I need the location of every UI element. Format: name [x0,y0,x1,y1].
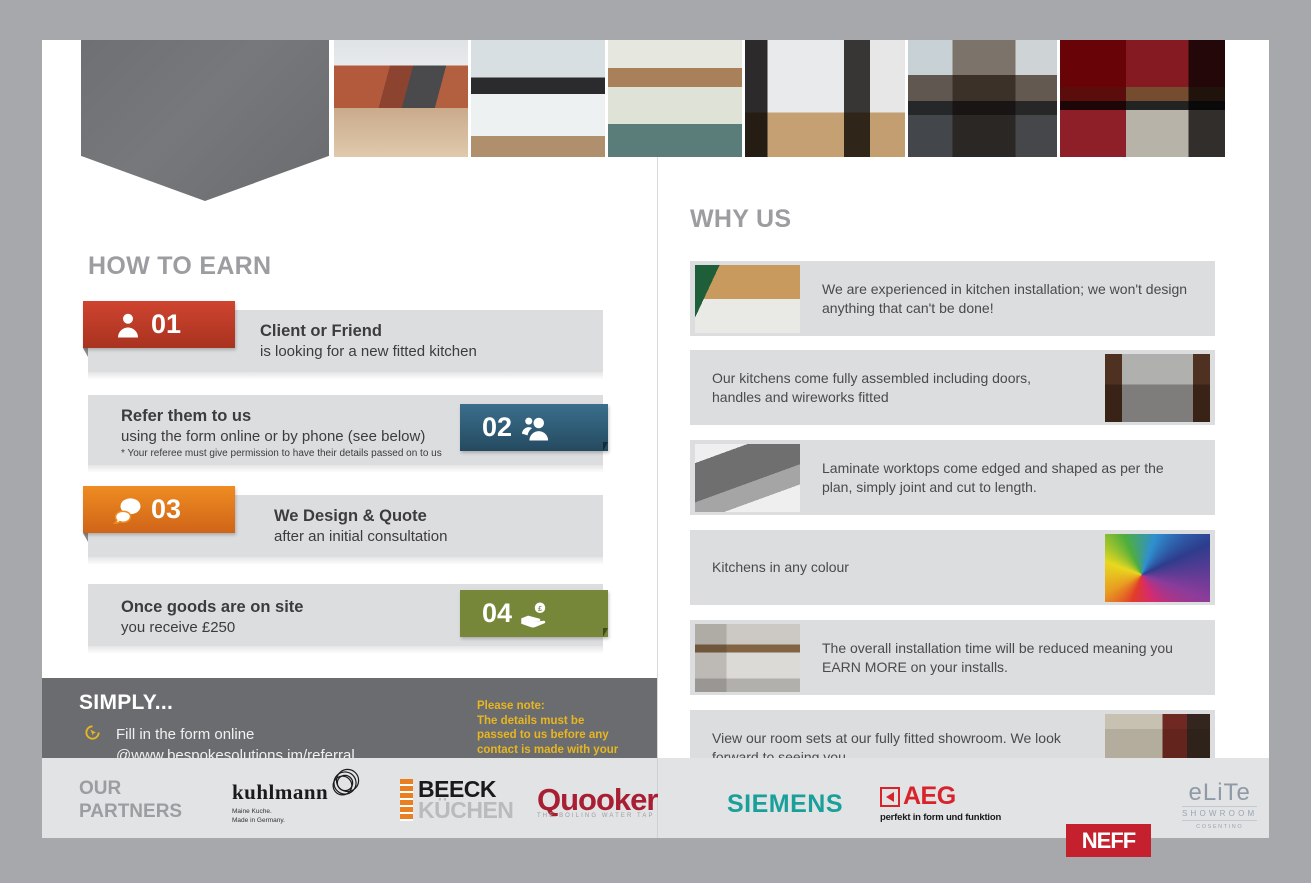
step-03-badge: 03 [83,486,235,533]
step-02-heading: Refer them to us [121,406,442,427]
kuhlmann-tagline: Maine Kuche. Made in Germany. [232,807,328,825]
why-card-3-text: Laminate worktops come edged and shaped … [822,459,1192,497]
why-card-5-text: The overall installation time will be re… [822,639,1192,677]
column-divider [657,157,658,838]
why-card-4-text: Kitchens in any colour [712,558,1082,577]
simply-online-line1: Fill in the form online [116,726,254,743]
hand-money-icon: £ [520,599,550,629]
fitted-kitchen-photo [695,624,800,692]
step-01-badge: 01 [83,301,235,348]
elite-showroom-word: SHOWROOM [1182,806,1257,821]
beeck-bars-icon [400,779,413,821]
kitchen-thumb-2 [471,40,608,157]
step-03-shadow [88,557,603,565]
step-02-row: 02 Refer them to us using the form onlin… [88,395,603,465]
two-people-icon [520,413,550,443]
why-card-4: Kitchens in any colour [690,530,1215,605]
speech-bubble-icon [113,495,143,525]
aeg-wordmark: AEG [903,782,956,811]
step-04-text: Once goods are on site you receive £250 [121,597,303,638]
how-to-earn-title: HOW TO EARN [88,252,271,281]
kitchen-thumb-4 [745,40,908,157]
neff-wordmark: NEFF [1082,828,1135,854]
kuhlmann-logo: kuhlmann Maine Kuche. Made in Germany. [232,780,328,825]
kitchen-thumb-3 [608,40,745,157]
step-03-body: after an initial consultation [274,527,447,547]
aeg-logo: AEG perfekt in form und funktion [880,782,1001,823]
our-partners-line2: PARTNERS [79,801,182,822]
beeck-kuchen-logo: BEECK KÜCHEN [400,779,513,821]
step-04-number: 04 [482,598,512,629]
person-icon [113,310,143,340]
siemens-logo: SIEMENS [727,790,843,819]
why-us-title: WHY US [690,205,791,234]
step-01-heading: Client or Friend [260,321,477,342]
step-01-text: Client or Friend is looking for a new fi… [260,321,477,362]
aeg-triangle-icon [886,792,894,802]
kitchen-thumb-1 [334,40,471,157]
step-03-heading: We Design & Quote [274,506,447,527]
elite-wordmark: eLiTe [1189,781,1251,805]
step-01-row: 01 Client or Friend is looking for a new… [88,310,603,372]
step-03-text: We Design & Quote after an initial consu… [274,506,447,547]
simply-title: SIMPLY... [79,691,173,715]
step-02-text: Refer them to us using the form online o… [121,406,442,461]
why-card-1-text: We are experienced in kitchen installati… [822,280,1192,318]
step-02-body: using the form online or by phone (see b… [121,427,442,447]
step-04-badge: 04 £ [460,590,608,637]
step-04-badge-tail [603,628,608,637]
neff-logo: NEFF [1066,824,1151,857]
laminate-worktop-photo [695,444,800,512]
beeck-kuchen-word: KÜCHEN [418,800,513,821]
our-partners-line1: OUR [79,778,121,799]
step-04-row: 04 £ Once goods are on site you receive … [88,584,603,646]
kitchen-thumb-6 [1060,40,1225,157]
step-02-badge: 02 [460,404,608,451]
step-02-note: * Your referee must give permission to h… [121,447,442,461]
siemens-wordmark: SIEMENS [727,790,843,819]
why-card-5: The overall installation time will be re… [690,620,1215,695]
step-03-number: 03 [151,494,181,525]
step-04-shadow [88,646,603,654]
step-01-body: is looking for a new fitted kitchen [260,342,477,362]
refer-a-client-banner [81,40,329,201]
aeg-tagline: perfekt in form und funktion [880,812,1001,823]
kuhlmann-tagline-line2: Made in Germany. [232,817,285,824]
kuhlmann-circles-icon [328,766,362,800]
aeg-mark-row: AEG [880,782,956,811]
step-01-badge-tail [83,348,88,357]
why-card-2: Our kitchens come fully assembled includ… [690,350,1215,425]
step-01-number: 01 [151,309,181,340]
why-card-3: Laminate worktops come edged and shaped … [690,440,1215,515]
step-04-heading: Once goods are on site [121,597,303,618]
quooker-tagline: THE BOILING WATER TAP [537,813,655,819]
step-03-row: 03 We Design & Quote after an initial co… [88,495,603,557]
referral-flyer-page: REFER A CLIENT and be rewarded £250.00 H… [42,40,1269,838]
kitchen-thumb-5 [908,40,1060,157]
step-01-shadow [88,372,603,380]
quooker-logo: Quooker THE BOILING WATER TAP [537,785,657,819]
elite-cosentino-word: COSENTINO [1196,824,1243,830]
elite-showroom-logo: eLiTe SHOWROOM COSENTINO [1182,781,1257,830]
step-03-badge-tail [83,533,88,542]
colour-swatch-photo [1105,534,1210,602]
neff-box: NEFF [1066,824,1151,857]
step-04-body: you receive £250 [121,618,303,638]
kuhlmann-wordmark: kuhlmann [232,780,328,805]
step-02-number: 02 [482,412,512,443]
why-card-2-text: Our kitchens come fully assembled includ… [712,369,1082,407]
quooker-wordmark: Quooker [537,785,657,815]
why-card-1: We are experienced in kitchen installati… [690,261,1215,336]
svg-text:£: £ [538,606,542,613]
step-02-badge-tail [603,442,608,451]
tools-notepad-photo [695,265,800,333]
kuhlmann-tagline-line1: Maine Kuche. [232,808,272,815]
corner-carousel-photo [1105,354,1210,422]
cursor-click-icon [82,724,102,741]
step-02-shadow [88,465,603,473]
our-partners-label: OUR PARTNERS [79,777,182,823]
aeg-square-icon [880,787,900,807]
